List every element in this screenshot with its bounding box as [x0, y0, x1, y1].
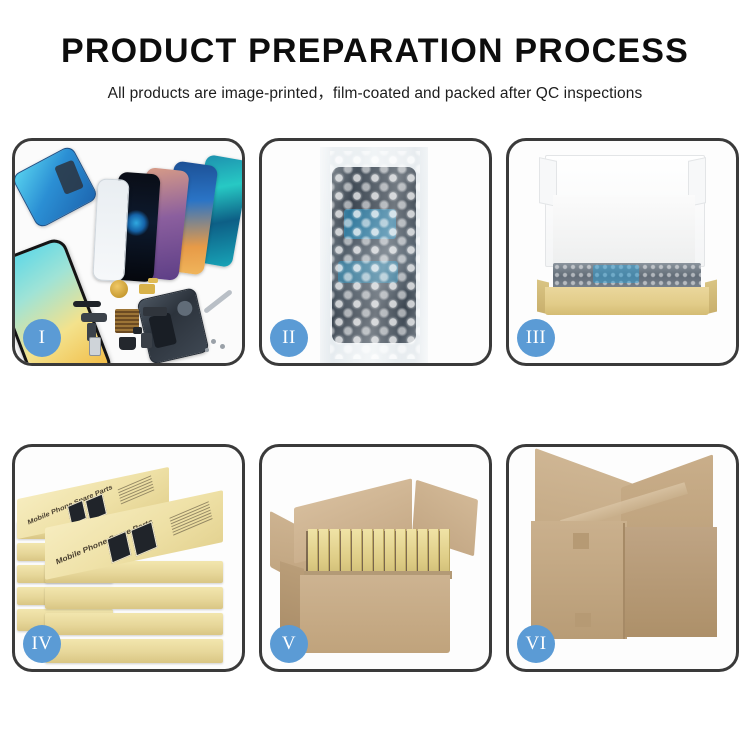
- packed-product-accent: [593, 265, 639, 283]
- process-step-3: III: [506, 138, 739, 366]
- carton-front-panel: [300, 575, 450, 653]
- carton-handle-slot-top: [573, 533, 589, 549]
- process-step-2: II: [259, 138, 492, 366]
- sealed-carton-side-panel: [625, 527, 717, 637]
- box-front-panel: [545, 287, 709, 315]
- page-title: PRODUCT PREPARATION PROCESS: [0, 34, 750, 70]
- product-preparation-page: PRODUCT PREPARATION PROCESS All products…: [0, 0, 750, 750]
- part-speaker: [119, 337, 136, 350]
- process-step-6: VI: [506, 444, 739, 672]
- part-screw-2: [220, 344, 225, 349]
- process-step-1: I: [12, 138, 245, 366]
- plastic-sheen: [320, 147, 428, 363]
- process-step-grid: I II: [12, 138, 738, 672]
- part-button: [148, 278, 158, 283]
- stacked-box-fr-4: [45, 639, 223, 663]
- page-subtitle: All products are image-printed，film-coat…: [0, 81, 750, 103]
- step-badge-6: VI: [517, 625, 555, 663]
- part-battery-cell: [141, 333, 152, 348]
- step-badge-3: III: [517, 319, 555, 357]
- part-speaker-coil: [110, 280, 128, 298]
- step-badge-5: V: [270, 625, 308, 663]
- stacked-box-fr-3: [45, 613, 223, 635]
- part-flex-cable-a: [81, 313, 107, 322]
- step-badge-2: II: [270, 319, 308, 357]
- sealed-carton-edge: [623, 523, 625, 639]
- step-badge-4: IV: [23, 625, 61, 663]
- page-header: PRODUCT PREPARATION PROCESS All products…: [0, 0, 750, 103]
- process-step-5: V: [259, 444, 492, 672]
- step-badge-1: I: [23, 319, 61, 357]
- phone-screen-1: [92, 178, 129, 282]
- part-camera-module: [139, 284, 155, 294]
- lid-spec-lines-back: [118, 475, 155, 504]
- stacked-box-fr-2: [45, 587, 223, 609]
- part-screw-3: [205, 348, 209, 352]
- part-antenna-strip: [73, 301, 101, 307]
- process-step-4: Mobile Phone Spare Parts Mobile: [12, 444, 245, 672]
- part-connector: [143, 307, 167, 316]
- part-screw-1: [211, 339, 216, 344]
- carton-handle-slot-bottom: [575, 613, 591, 627]
- part-sim-tray: [89, 337, 101, 356]
- phone-screen-fan: [93, 155, 242, 275]
- lid-spec-lines-front: [169, 501, 212, 535]
- foam-lining: [553, 195, 695, 273]
- part-chip: [133, 327, 142, 334]
